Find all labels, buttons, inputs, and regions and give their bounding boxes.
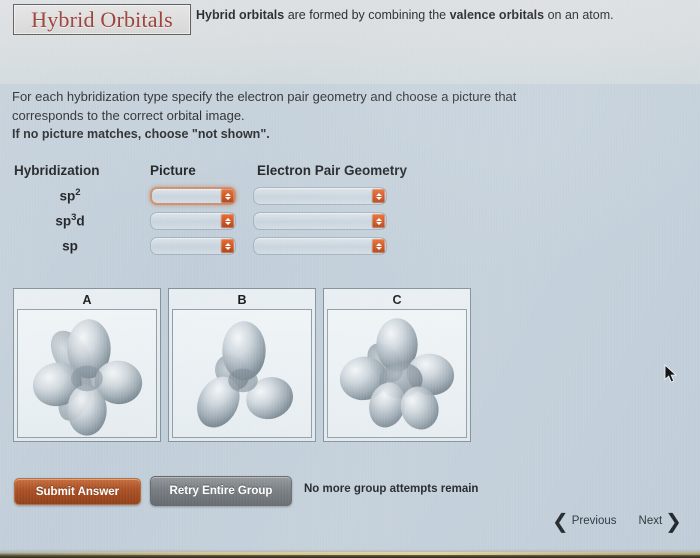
answer-table: Hybridization Picture Electron Pair Geom… (0, 163, 470, 260)
hyb-base-0: sp (59, 189, 75, 204)
orbital-image-a (17, 309, 157, 438)
chevron-updown-icon[interactable] (221, 189, 234, 203)
instruction-line-3: If no picture matches, choose "not shown… (12, 125, 672, 144)
topic-title-text: Hybrid Orbitals (31, 7, 173, 33)
submit-answer-label: Submit Answer (36, 486, 119, 498)
retry-entire-group-label: Retry Entire Group (170, 485, 273, 497)
next-label: Next (639, 515, 663, 527)
retry-entire-group-button[interactable]: Retry Entire Group (150, 476, 292, 506)
chevron-updown-icon[interactable] (372, 239, 385, 253)
row-hybridization-label-2: sp (0, 237, 140, 254)
chevron-updown-icon[interactable] (221, 239, 234, 253)
orbital-choice-panel-c[interactable]: C (323, 288, 471, 442)
picture-select-1[interactable] (150, 212, 236, 230)
topic-description: Hybrid orbitals are formed by combining … (196, 7, 696, 24)
instruction-line-2: corresponds to the correct orbital image… (12, 106, 672, 125)
chevron-updown-icon[interactable] (372, 189, 385, 203)
column-header-geometry: Electron Pair Geometry (257, 163, 407, 178)
topic-title-chip: Hybrid Orbitals (13, 4, 191, 35)
panel-label-b: B (172, 292, 312, 309)
monitor-bottom-edge (0, 549, 700, 558)
panel-label-c: C (327, 292, 467, 309)
topic-banner: Hybrid Orbitals Hybrid orbitals are form… (0, 0, 700, 84)
hyb-sup-0: 2 (75, 187, 80, 198)
submit-answer-button[interactable]: Submit Answer (14, 478, 141, 505)
mouse-cursor (664, 364, 678, 389)
topic-description-tail: on an atom. (544, 8, 614, 22)
row-hybridization-label-1: sp3d (0, 212, 140, 229)
hyb-tail-1: d (76, 214, 84, 229)
picture-select-0[interactable] (150, 187, 236, 205)
instruction-line-1: For each hybridization type specify the … (12, 87, 672, 106)
hyb-base-1: sp (55, 214, 71, 229)
pager: ❮ Previous Next ❯ (552, 514, 682, 528)
panel-label-a: A (17, 292, 157, 309)
topic-description-term-1: Hybrid orbitals (196, 8, 284, 22)
orbital-choice-panels: A (13, 288, 471, 442)
geometry-select-1[interactable] (253, 212, 387, 230)
row-hybridization-label-0: sp2 (0, 187, 140, 204)
answer-table-header-row: Hybridization Picture Electron Pair Geom… (0, 163, 470, 185)
question-instructions: For each hybridization type specify the … (12, 87, 672, 144)
previous-label: Previous (572, 515, 617, 527)
previous-button[interactable]: ❮ Previous (552, 514, 617, 528)
geometry-select-2[interactable] (253, 237, 387, 255)
orbital-choice-panel-b[interactable]: B (168, 288, 316, 442)
chevron-left-icon: ❮ (552, 514, 569, 528)
hyb-base-2: sp (62, 239, 78, 254)
attempts-remaining-note: No more group attempts remain (304, 483, 478, 495)
geometry-select-0[interactable] (253, 187, 387, 205)
topic-description-mid: are formed by combining the (284, 8, 449, 22)
table-row: sp2 (0, 185, 470, 210)
chevron-right-icon: ❯ (665, 514, 682, 528)
orbital-image-c (327, 309, 467, 438)
chevron-updown-icon[interactable] (372, 214, 385, 228)
column-header-hybridization: Hybridization (14, 163, 100, 178)
next-button[interactable]: Next ❯ (639, 514, 682, 528)
table-row: sp3d (0, 210, 470, 235)
picture-select-2[interactable] (150, 237, 236, 255)
table-row: sp (0, 235, 470, 260)
topic-description-term-2: valence orbitals (450, 8, 545, 22)
column-header-picture: Picture (150, 163, 196, 178)
orbital-image-b (172, 309, 312, 438)
chevron-updown-icon[interactable] (221, 214, 234, 228)
orbital-choice-panel-a[interactable]: A (13, 288, 161, 442)
